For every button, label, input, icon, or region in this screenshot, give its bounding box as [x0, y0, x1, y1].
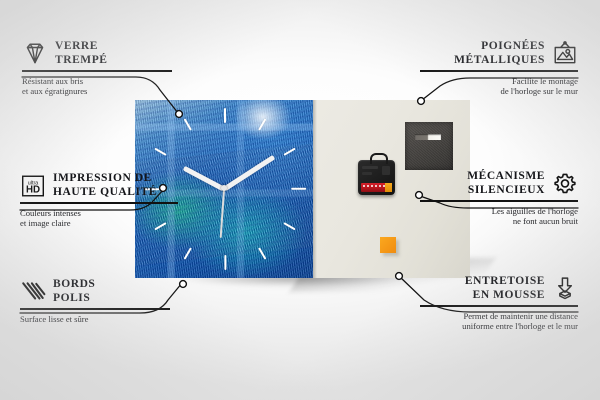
gear-icon — [552, 171, 578, 197]
feature-poignees-metalliques: POIGNÉES MÉTALLIQUES Facilite le montage… — [420, 40, 578, 97]
leader-marker-6 — [396, 273, 403, 280]
diagonal-lines-icon — [20, 279, 46, 305]
infographic-canvas: VERRE TREMPÉ Résistant aux bris et aux é… — [0, 0, 600, 400]
ultra-hd-icon: ultra HD — [20, 173, 46, 199]
feature-subtitle: Surface lisse et sûre — [20, 314, 170, 325]
leader-marker-4 — [418, 98, 425, 105]
feature-subtitle: Les aiguilles de l'horloge ne font aucun… — [420, 206, 578, 227]
feature-subtitle: Couleurs intenses et image claire — [20, 208, 178, 229]
title-rule — [420, 305, 578, 307]
feature-entretoise-en-mousse: ENTRETOISE EN MOUSSE Permet de maintenir… — [420, 275, 578, 332]
title-rule — [20, 308, 170, 310]
feature-title: MÉCANISME SILENCIEUX — [467, 170, 545, 197]
press-down-arrow-icon — [552, 276, 578, 302]
feature-subtitle: Permet de maintenir une distance uniform… — [420, 311, 578, 332]
feature-bords-polis: BORDS POLIS Surface lisse et sûre — [20, 278, 170, 324]
feature-subtitle: Résistant aux bris et aux égratignures — [22, 76, 172, 97]
feature-subtitle: Facilite le montage de l'horloge sur le … — [420, 76, 578, 97]
feature-impression-haute-qualite: ultra HD IMPRESSION DE HAUTE QUALITÉ Cou… — [20, 172, 178, 229]
feature-title: VERRE TREMPÉ — [55, 40, 108, 67]
title-rule — [420, 200, 578, 202]
title-rule — [20, 202, 178, 204]
feature-mecanisme-silencieux: MÉCANISME SILENCIEUX Les aiguilles de l'… — [420, 170, 578, 227]
title-rule — [420, 70, 578, 72]
diamond-icon — [22, 41, 48, 67]
feature-title: IMPRESSION DE HAUTE QUALITÉ — [53, 172, 157, 199]
feature-verre-trempe: VERRE TREMPÉ Résistant aux bris et aux é… — [22, 40, 172, 97]
feature-title: ENTRETOISE EN MOUSSE — [465, 275, 545, 302]
leader-marker-3 — [180, 281, 187, 288]
svg-text:HD: HD — [26, 184, 40, 195]
feature-title: POIGNÉES MÉTALLIQUES — [454, 40, 545, 67]
hanging-frame-icon — [552, 41, 578, 67]
title-rule — [22, 70, 172, 72]
feature-title: BORDS POLIS — [53, 278, 95, 305]
leader-marker-1 — [176, 111, 183, 118]
